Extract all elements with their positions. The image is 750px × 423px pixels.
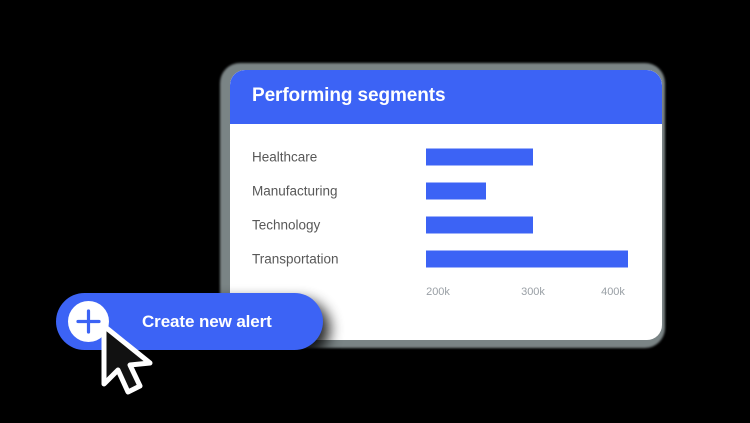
chart-row: Transportation [230, 244, 662, 274]
bar-label: Healthcare [252, 150, 317, 165]
chart-row: Manufacturing [230, 176, 662, 206]
bar[interactable] [426, 183, 486, 200]
card-header: Performing segments [230, 70, 662, 124]
bar[interactable] [426, 217, 533, 234]
bar[interactable] [426, 251, 628, 268]
create-new-alert-label: Create new alert [142, 312, 272, 332]
page-title: Performing segments [252, 85, 445, 107]
bar-label: Manufacturing [252, 184, 338, 199]
screenshot-stage: Performing segments Healthcare Manufactu… [0, 0, 750, 423]
bar-label: Transportation [252, 252, 339, 267]
bar-label: Technology [252, 218, 320, 233]
bar[interactable] [426, 149, 533, 166]
plus-icon [68, 301, 109, 342]
create-new-alert-button[interactable]: Create new alert [56, 293, 323, 350]
axis-tick-label: 200k [426, 286, 450, 298]
chart-row: Healthcare [230, 142, 662, 172]
chart-row: Technology [230, 210, 662, 240]
axis-tick-label: 300k [521, 286, 545, 298]
axis-tick-label: 400k [601, 286, 625, 298]
